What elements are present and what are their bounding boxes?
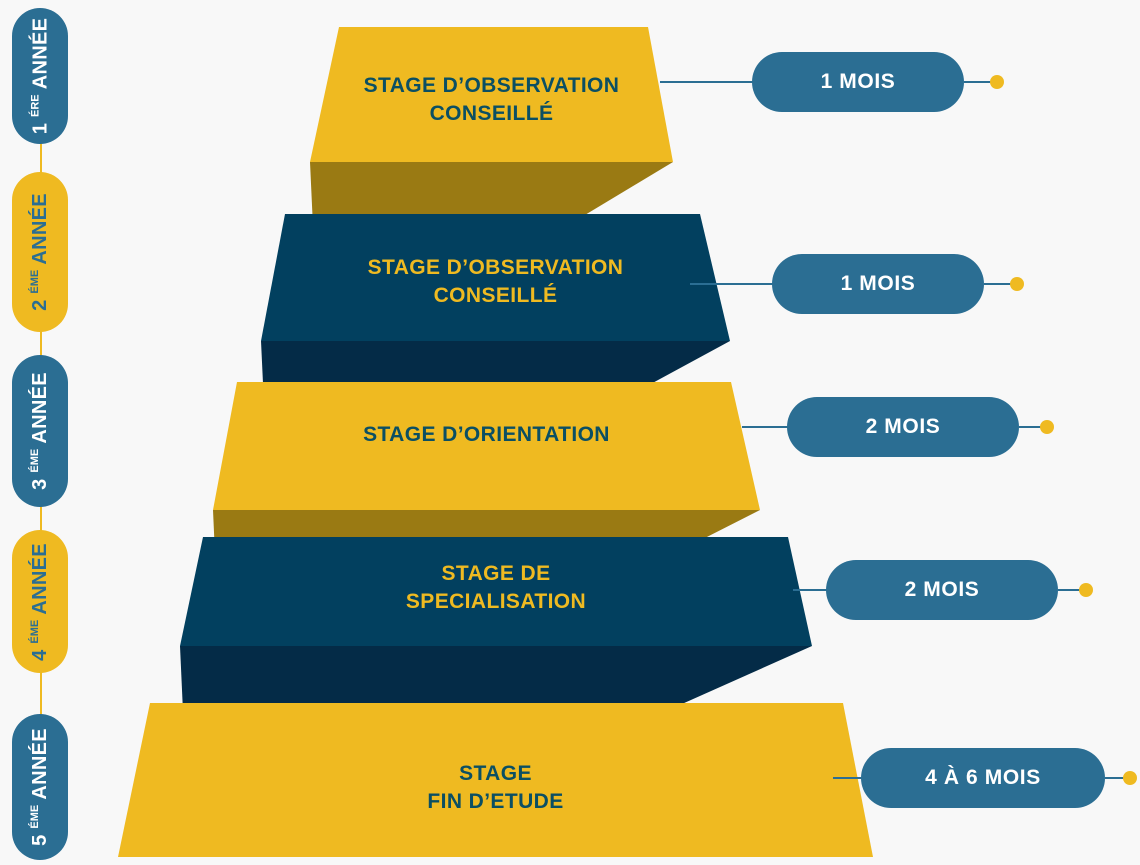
- tier-4-shadow: [180, 646, 812, 712]
- year-timeline-rail: 1 ÉRE ANNÉE 2 ÉME ANNÉE 3 ÉME ANNÉE 4 ÉM…: [0, 0, 110, 865]
- badge-end-dot-1: [990, 75, 1004, 89]
- badge-end-dot-4: [1079, 583, 1093, 597]
- year-pill-2-label: 2 ÉME ANNÉE: [30, 193, 50, 311]
- rail-connector-2-3: [40, 328, 42, 358]
- duration-badge-group-1: 1 MOIS: [660, 52, 1020, 112]
- rail-connector-4-5: [40, 669, 42, 717]
- duration-badge-3[interactable]: 2 MOIS: [787, 397, 1019, 457]
- duration-badge-group-4: 2 MOIS: [793, 560, 1093, 620]
- tier-1-face: [310, 27, 673, 162]
- badge-end-dot-5: [1123, 771, 1137, 785]
- year-pill-4-label: 4 ÉME ANNÉE: [30, 543, 50, 661]
- year-pill-3-label: 3 ÉME ANNÉE: [30, 372, 50, 490]
- duration-badge-5[interactable]: 4 À 6 MOIS: [861, 748, 1105, 808]
- duration-badge-group-3: 2 MOIS: [742, 397, 1042, 457]
- badge-end-dot-2: [1010, 277, 1024, 291]
- tier-2-face: [261, 214, 730, 341]
- tier-3-face: [213, 382, 760, 510]
- tier-4-face: [180, 537, 812, 646]
- duration-badge-2[interactable]: 1 MOIS: [772, 254, 984, 314]
- tier-5-face: [118, 703, 873, 857]
- duration-badge-group-2: 1 MOIS: [690, 254, 1020, 314]
- year-pill-3[interactable]: 3 ÉME ANNÉE: [12, 355, 68, 507]
- duration-badge-4[interactable]: 2 MOIS: [826, 560, 1058, 620]
- year-pill-1[interactable]: 1 ÉRE ANNÉE: [12, 8, 68, 144]
- duration-badge-1[interactable]: 1 MOIS: [752, 52, 964, 112]
- year-pill-1-label: 1 ÉRE ANNÉE: [30, 18, 50, 135]
- year-pill-5[interactable]: 5 ÉME ANNÉE: [12, 714, 68, 860]
- duration-badge-group-5: 4 À 6 MOIS: [833, 748, 1138, 808]
- rail-connector-1-2: [40, 141, 42, 175]
- year-pill-5-label: 5 ÉME ANNÉE: [30, 728, 50, 846]
- year-pill-4[interactable]: 4 ÉME ANNÉE: [12, 530, 68, 673]
- badge-end-dot-3: [1040, 420, 1054, 434]
- infographic-canvas: STAGE D’OBSERVATION CONSEILLÉ STAGE D’OB…: [0, 0, 1140, 865]
- rail-connector-3-4: [40, 503, 42, 533]
- year-pill-2[interactable]: 2 ÉME ANNÉE: [12, 172, 68, 332]
